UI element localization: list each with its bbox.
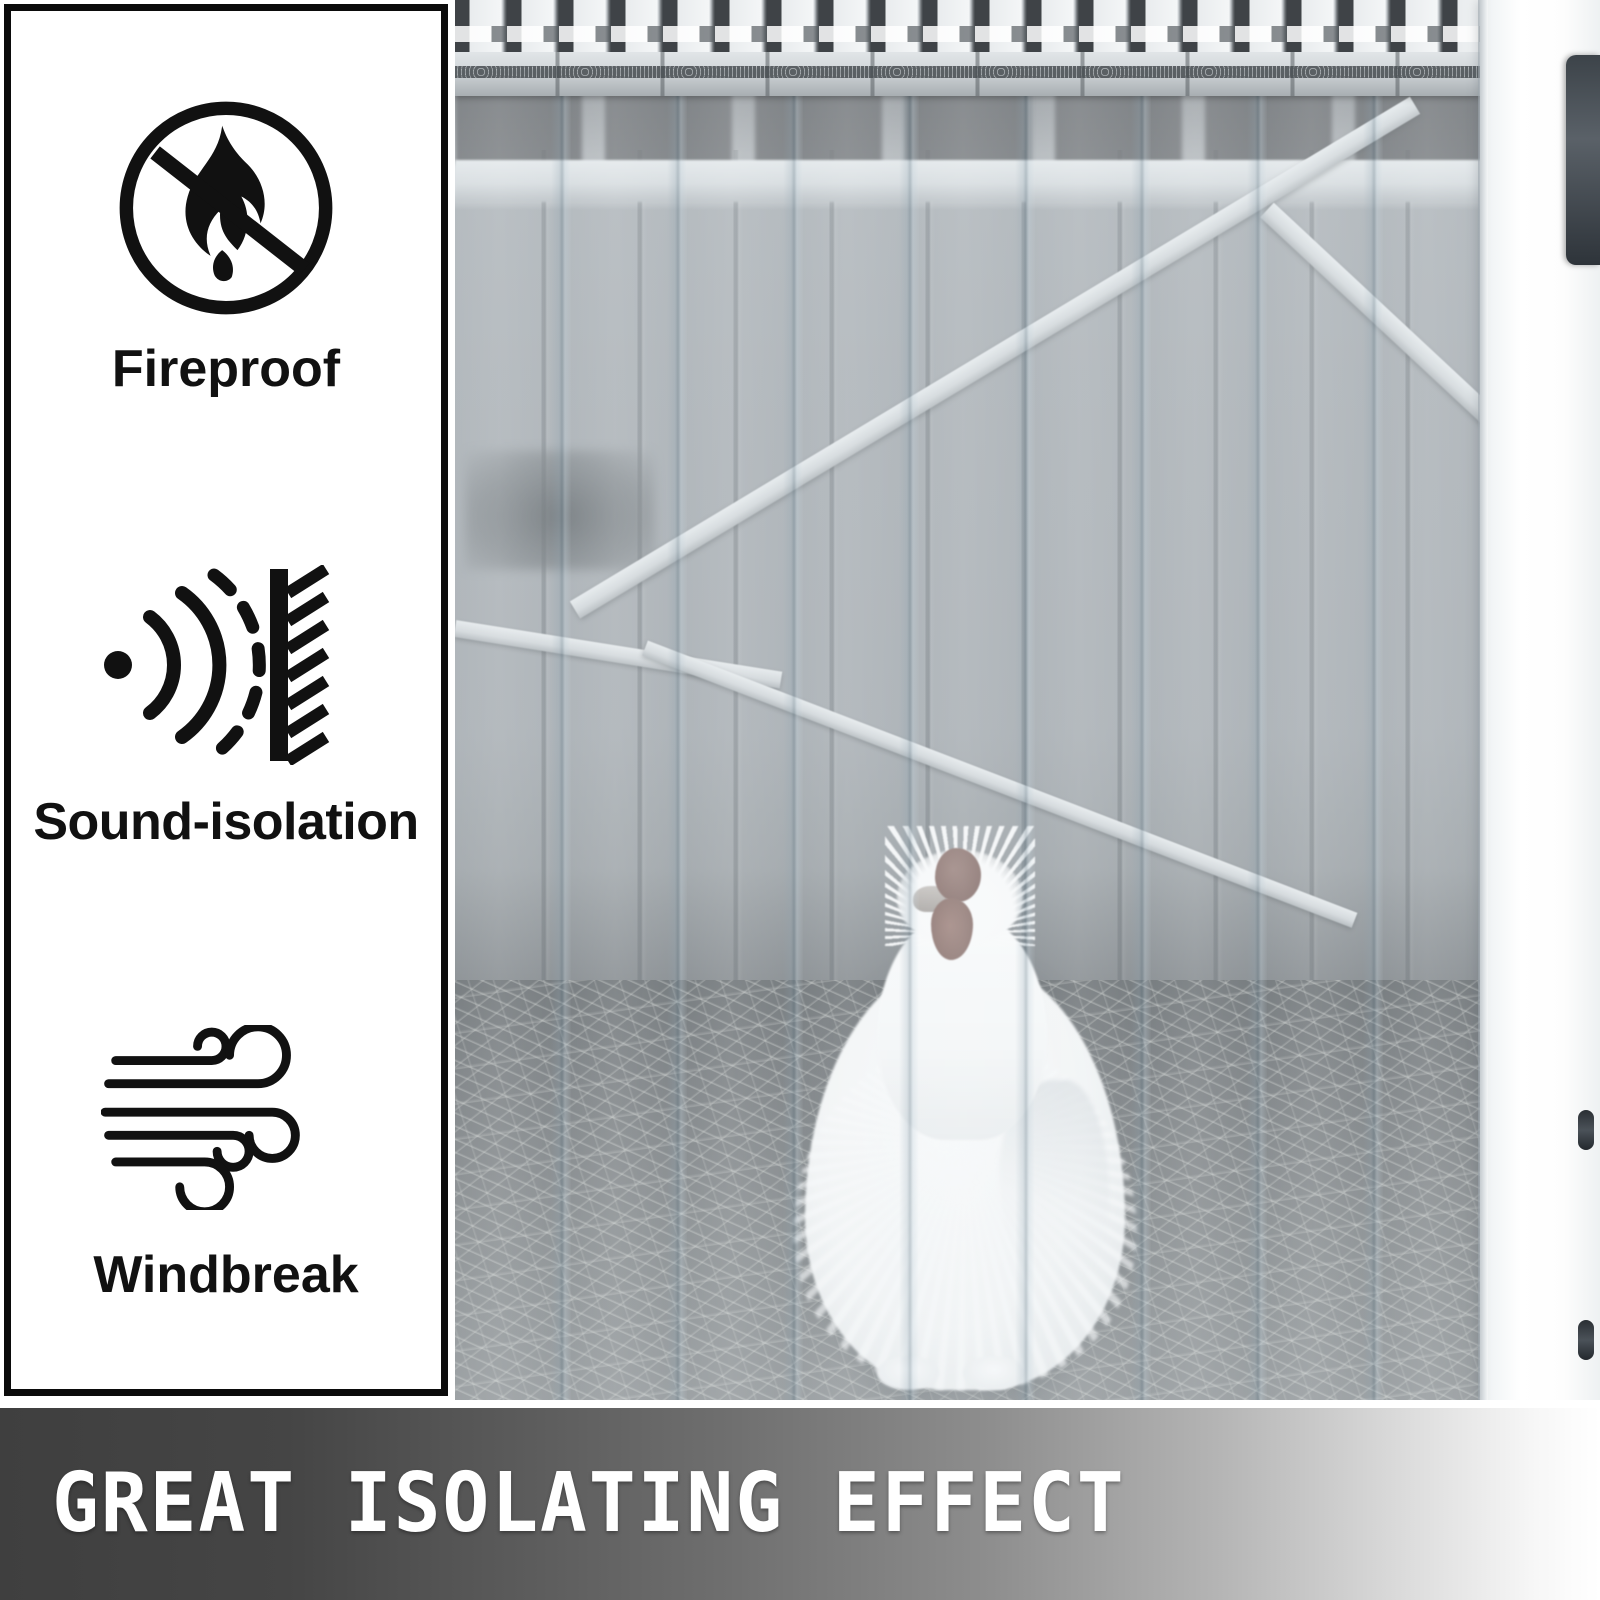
product-feature-graphic: Fireproof bbox=[0, 0, 1600, 1600]
silkie-chicken bbox=[785, 790, 1145, 1390]
rail-bracket-teeth bbox=[455, 0, 1600, 52]
feature-label-sound-isolation: Sound-isolation bbox=[33, 796, 418, 848]
product-photo bbox=[455, 0, 1600, 1400]
bottom-banner: GREAT ISOLATING EFFECT bbox=[0, 1408, 1600, 1600]
chicken-foot-left bbox=[877, 1356, 939, 1390]
hay-shadow bbox=[465, 450, 655, 570]
door-latch-upper bbox=[1578, 1110, 1594, 1150]
product-feature-panel: Fireproof bbox=[4, 4, 448, 1396]
door-latch-lower bbox=[1578, 1320, 1594, 1360]
chicken-foot-right bbox=[963, 1356, 1025, 1390]
feature-windbreak: Windbreak bbox=[11, 1013, 441, 1301]
curtain-mounting-rail bbox=[455, 0, 1600, 96]
door-hinge-icon bbox=[1566, 55, 1600, 265]
banner-headline: GREAT ISOLATING EFFECT bbox=[52, 1463, 1126, 1545]
door-frame-edge bbox=[1478, 0, 1488, 1400]
chicken-comb bbox=[935, 848, 981, 902]
feature-label-windbreak: Windbreak bbox=[93, 1249, 358, 1301]
feature-label-fireproof: Fireproof bbox=[112, 343, 340, 395]
rail-screws bbox=[455, 66, 1600, 78]
shelf-lip bbox=[455, 160, 1600, 202]
feature-sound-isolation: Sound-isolation bbox=[11, 560, 441, 848]
no-fire-icon bbox=[111, 103, 341, 313]
sound-wave-wall-icon bbox=[86, 560, 366, 770]
feature-fireproof: Fireproof bbox=[11, 103, 441, 395]
wind-icon bbox=[101, 1013, 351, 1223]
